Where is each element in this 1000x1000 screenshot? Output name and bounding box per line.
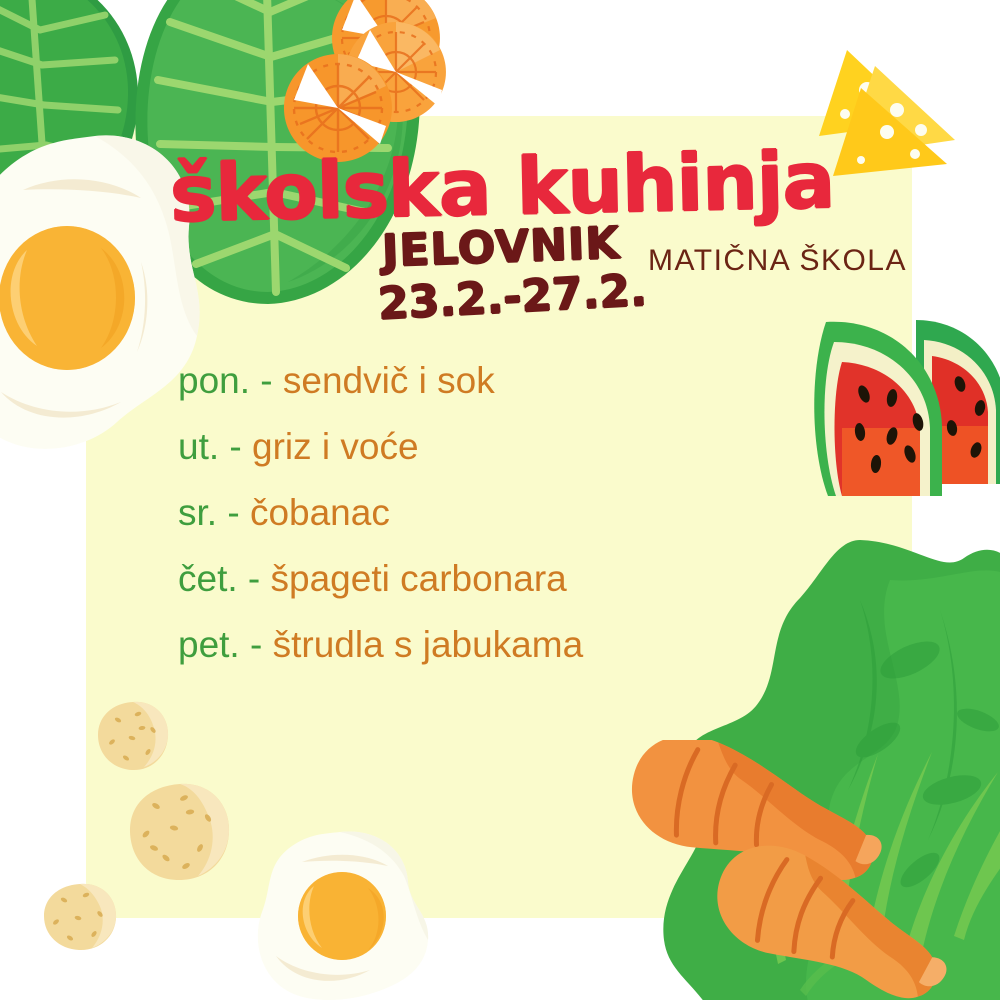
list-item: ut. - griz i voće [178, 414, 818, 480]
menu-separator: - [260, 360, 272, 401]
list-item: pet. - štrudla s jabukama [178, 612, 818, 678]
menu-separator: - [250, 624, 262, 665]
menu-dish-label: sendvič i sok [283, 360, 495, 401]
menu-day-label: ut. [178, 426, 219, 467]
list-item: pon. - sendvič i sok [178, 348, 818, 414]
menu-dish-label: griz i voće [252, 426, 419, 467]
menu-day-label: pon. [178, 360, 250, 401]
list-item: sr. - čobanac [178, 480, 818, 546]
menu-day-label: pet. [178, 624, 240, 665]
menu-separator: - [227, 492, 239, 533]
menu-list: pon. - sendvič i sok ut. - griz i voće s… [178, 348, 818, 678]
menu-day-label: čet. [178, 558, 238, 599]
menu-dish-label: čobanac [250, 492, 390, 533]
menu-separator: - [248, 558, 260, 599]
poster-canvas: školska kuhinja JELOVNIK 23.2.-27.2. MAT… [0, 0, 1000, 1000]
list-item: čet. - špageti carbonara [178, 546, 818, 612]
menu-day-label: sr. [178, 492, 217, 533]
menu-dish-label: špageti carbonara [271, 558, 567, 599]
menu-separator: - [229, 426, 241, 467]
menu-dish-label: štrudla s jabukama [273, 624, 584, 665]
